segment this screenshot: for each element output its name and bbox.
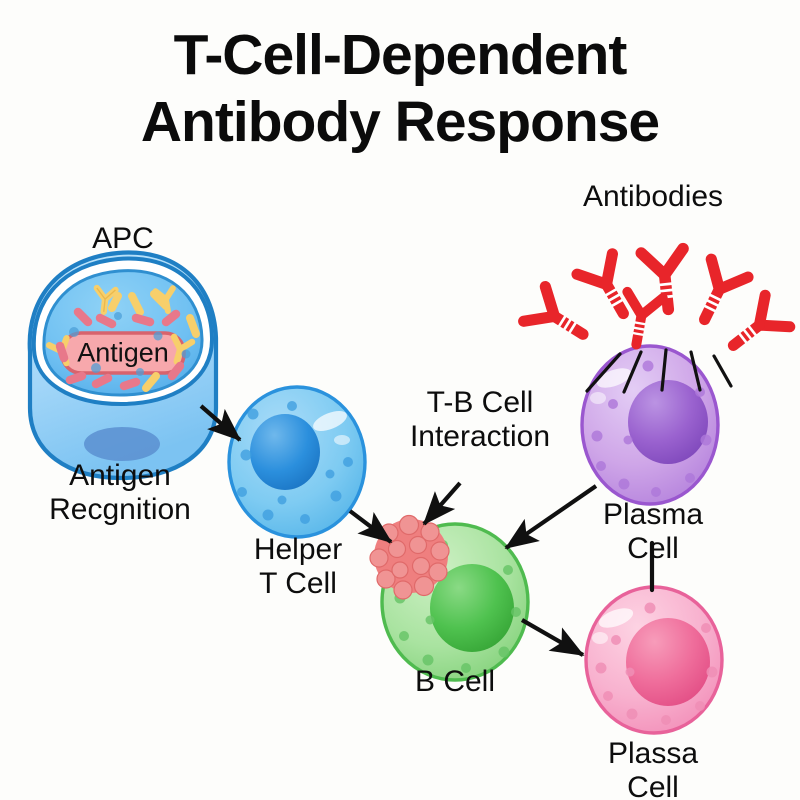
helper-t-cell-highlight-small — [334, 435, 350, 445]
antigen-label: Antigen — [77, 338, 169, 369]
cell-helper-t-cell[interactable] — [229, 387, 365, 537]
helper-t-cell-label: Helper T Cell — [254, 533, 342, 600]
antibody-icon — [577, 254, 641, 324]
plassa-cell-nucleus — [626, 618, 710, 706]
diagram-canvas: T-Cell-Dependent Antibody Response — [0, 0, 800, 800]
apc-nucleus — [84, 427, 160, 461]
antibody-icon — [686, 259, 748, 328]
cell-b-cell[interactable] — [370, 516, 528, 681]
helper-t-cell-nucleus — [250, 414, 320, 490]
antibody-icon — [524, 287, 594, 352]
plasma-cell-highlight-small — [590, 392, 606, 404]
t-b-interaction-label: T-B Cell Interaction — [410, 386, 550, 453]
arrow-interaction-to-b-cell — [424, 483, 460, 524]
plasma-cell-label: Plasma Cell — [580, 498, 727, 565]
arrow-b-cell-to-plassa-cell — [522, 620, 583, 655]
diagram-graphics — [0, 0, 800, 800]
cell-plasma-cell[interactable] — [582, 346, 718, 504]
antibodies-label: Antibodies — [583, 180, 723, 214]
b-cell-label: B Cell — [415, 665, 495, 699]
apc-label: APC — [92, 222, 154, 256]
antigen-recognition-label: Antigen Recgnition — [49, 459, 191, 526]
plassa-cell-highlight-small — [592, 632, 608, 644]
plassa-cell-label: Plassa Cell — [580, 737, 727, 800]
antibody-icon — [619, 292, 663, 348]
cell-plassa-cell[interactable] — [586, 587, 722, 733]
antibody-icon — [721, 295, 790, 361]
